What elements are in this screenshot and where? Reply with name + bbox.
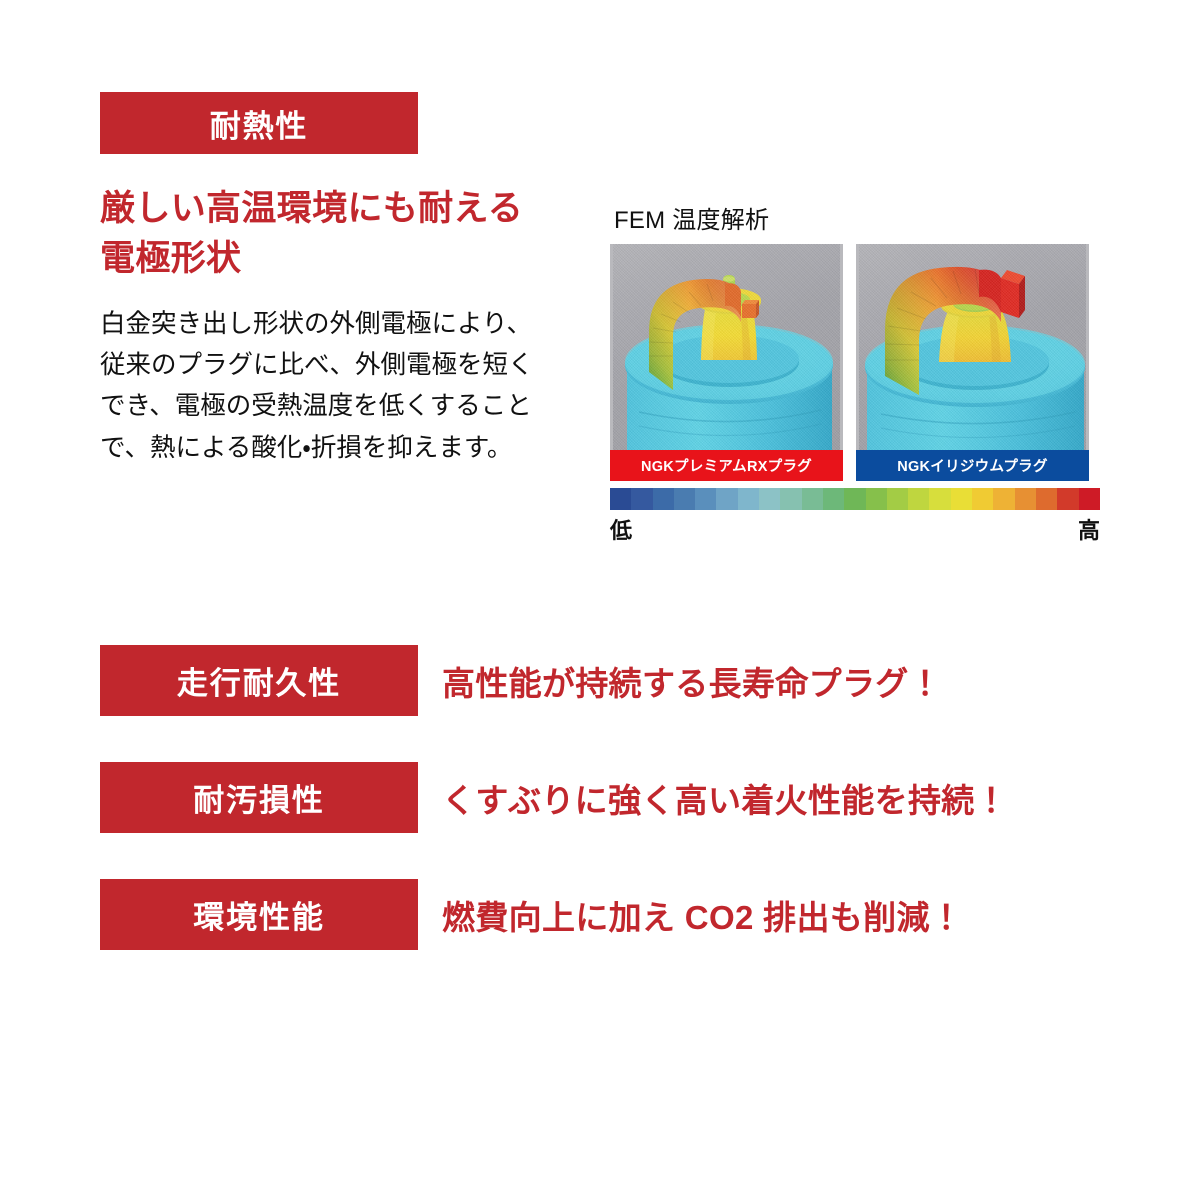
legend-band-8: [780, 488, 801, 510]
legend-band-9: [802, 488, 823, 510]
section-badge-heat-resistance: 耐熱性: [100, 92, 418, 154]
legend-label-high: 高: [1078, 513, 1100, 545]
legend-band-22: [1079, 488, 1100, 510]
fem-panel-group: NGKプレミアムRXプラグ: [610, 244, 1100, 481]
legend-band-1: [631, 488, 652, 510]
fem-panel-premium-rx: NGKプレミアムRXプラグ: [610, 244, 843, 481]
legend-band-14: [908, 488, 929, 510]
fem-analysis-figure: FEM 温度解析: [610, 200, 1100, 545]
fem-caption-premium-rx: NGKプレミアムRXプラグ: [610, 450, 843, 481]
legend-band-10: [823, 488, 844, 510]
legend-band-18: [993, 488, 1014, 510]
feature-text-environmental: 燃費向上に加え CO2 排出も削減！: [442, 891, 963, 939]
feature-badge-fouling-resistance: 耐汚損性: [100, 762, 418, 833]
headline-line-1: 厳しい高温環境にも耐える: [100, 184, 600, 234]
legend-band-20: [1036, 488, 1057, 510]
legend-band-4: [695, 488, 716, 510]
legend-band-19: [1015, 488, 1036, 510]
feature-row-fouling-resistance: 耐汚損性 くすぶりに強く高い着火性能を持続！: [100, 762, 1110, 833]
feature-badge-durability: 走行耐久性: [100, 645, 418, 716]
feature-row-durability: 走行耐久性 高性能が持続する長寿命プラグ！: [100, 645, 1110, 716]
temperature-legend-gradient-bar: [610, 488, 1100, 510]
feature-rows-section: 走行耐久性 高性能が持続する長寿命プラグ！ 耐汚損性 くすぶりに強く高い着火性能…: [100, 645, 1110, 950]
spark-plug-thermal-render-rx: [613, 244, 843, 450]
legend-band-6: [738, 488, 759, 510]
fem-caption-iridium: NGKイリジウムプラグ: [856, 450, 1089, 481]
feature-text-fouling-resistance: くすぶりに強く高い着火性能を持続！: [442, 774, 1008, 822]
heat-resistance-headline: 厳しい高温環境にも耐える 電極形状: [100, 184, 600, 283]
infographic-page: 耐熱性 厳しい高温環境にも耐える 電極形状 白金突き出し形状の外側電極により、 …: [0, 0, 1200, 1200]
legend-band-3: [674, 488, 695, 510]
body-line-1: 白金突き出し形状の外側電極により、: [100, 304, 592, 345]
legend-band-17: [972, 488, 993, 510]
body-line-2: 従来のプラグに比べ、外側電極を短く: [100, 345, 592, 386]
legend-band-2: [653, 488, 674, 510]
legend-band-0: [610, 488, 631, 510]
legend-band-16: [951, 488, 972, 510]
feature-row-environmental: 環境性能 燃費向上に加え CO2 排出も削減！: [100, 879, 1110, 950]
headline-line-2: 電極形状: [100, 234, 600, 284]
legend-band-15: [929, 488, 950, 510]
fem-analysis-title: FEM 温度解析: [614, 200, 1100, 235]
heat-resistance-body: 白金突き出し形状の外側電極により、 従来のプラグに比べ、外側電極を短く でき、電…: [100, 304, 592, 468]
legend-label-low: 低: [610, 513, 632, 545]
legend-band-21: [1057, 488, 1078, 510]
legend-band-12: [866, 488, 887, 510]
temperature-legend-labels: 低 高: [610, 513, 1100, 545]
feature-text-durability: 高性能が持続する長寿命プラグ！: [442, 657, 942, 705]
fem-thermal-image-premium-rx: [610, 244, 843, 450]
spark-plug-thermal-render-iridium: [859, 244, 1089, 450]
legend-band-7: [759, 488, 780, 510]
legend-band-13: [887, 488, 908, 510]
body-line-4: で、熱による酸化・折損を抑えます。: [100, 428, 592, 469]
fem-panel-iridium: NGKイリジウムプラグ: [856, 244, 1089, 481]
body-line-3: でき、電極の受熱温度を低くすること: [100, 386, 592, 427]
legend-band-5: [716, 488, 737, 510]
temperature-legend: 低 高: [610, 488, 1100, 545]
fem-thermal-image-iridium: [856, 244, 1089, 450]
feature-badge-environmental: 環境性能: [100, 879, 418, 950]
legend-band-11: [844, 488, 865, 510]
